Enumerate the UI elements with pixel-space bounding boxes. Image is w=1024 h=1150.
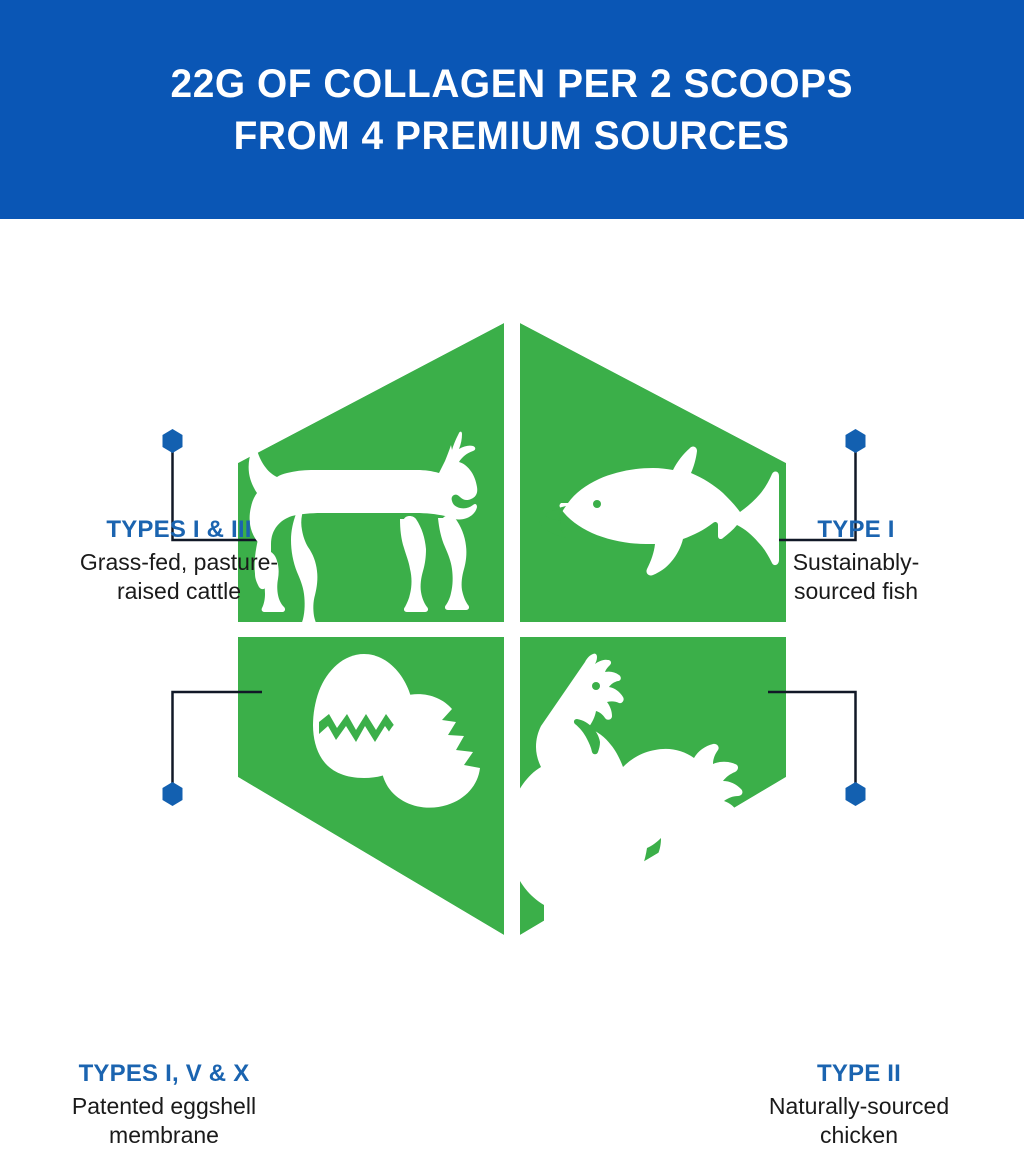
banner-headline-line-2: FROM 4 PREMIUM SOURCES (234, 110, 790, 162)
collagen-sources-diagram: TYPES I & III Grass-fed, pasture- raised… (0, 219, 1024, 950)
callout-bottom-right: TYPE II Naturally-sourced chicken (709, 1059, 1009, 1150)
chicken-eye (592, 682, 600, 690)
callout-desc-chicken-line-2: chicken (709, 1121, 1009, 1150)
callout-desc-cattle-line-1: Grass-fed, pasture- (29, 548, 329, 577)
callout-title-fish: TYPE I (706, 515, 1006, 545)
callout-title-chicken: TYPE II (709, 1059, 1009, 1089)
callout-desc-fish-line-2: sourced fish (706, 577, 1006, 606)
callout-desc-eggshell-line-2: membrane (14, 1121, 314, 1150)
callout-bottom-left: TYPES I, V & X Patented eggshell membran… (14, 1059, 314, 1150)
callout-desc-eggshell-line-1: Patented eggshell (14, 1092, 314, 1121)
fish-eye (593, 500, 601, 508)
banner-headline-line-1: 22G OF COLLAGEN PER 2 SCOOPS (171, 58, 854, 110)
callout-top-right: TYPE I Sustainably- sourced fish (706, 515, 1006, 606)
header-banner: 22G OF COLLAGEN PER 2 SCOOPS FROM 4 PREM… (0, 0, 1024, 219)
callout-desc-cattle-line-2: raised cattle (29, 577, 329, 606)
callout-title-eggshell: TYPES I, V & X (14, 1059, 314, 1089)
callout-desc-fish-line-1: Sustainably- (706, 548, 1006, 577)
callout-title-cattle: TYPES I & III (29, 515, 329, 545)
callout-top-left: TYPES I & III Grass-fed, pasture- raised… (29, 515, 329, 606)
callout-desc-chicken-line-1: Naturally-sourced (709, 1092, 1009, 1121)
